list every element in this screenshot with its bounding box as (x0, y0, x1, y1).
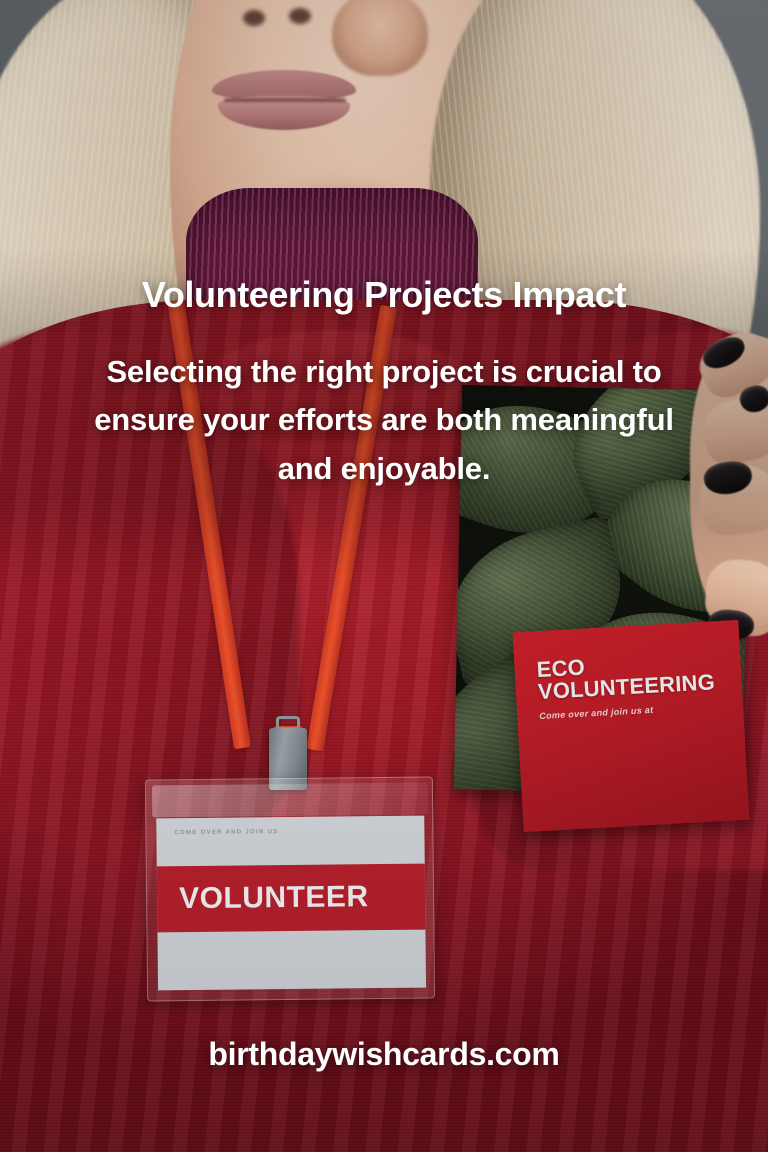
website-credit: birthdaywishcards.com (0, 1036, 768, 1073)
text-overlay: Volunteering Projects Impact Selecting t… (0, 0, 768, 1152)
page-title: Volunteering Projects Impact (0, 274, 768, 316)
page-subtitle: Selecting the right project is crucial t… (84, 348, 684, 493)
pin-graphic-canvas: ECOVOLUNTEERING Come over and join us at… (0, 0, 768, 1152)
